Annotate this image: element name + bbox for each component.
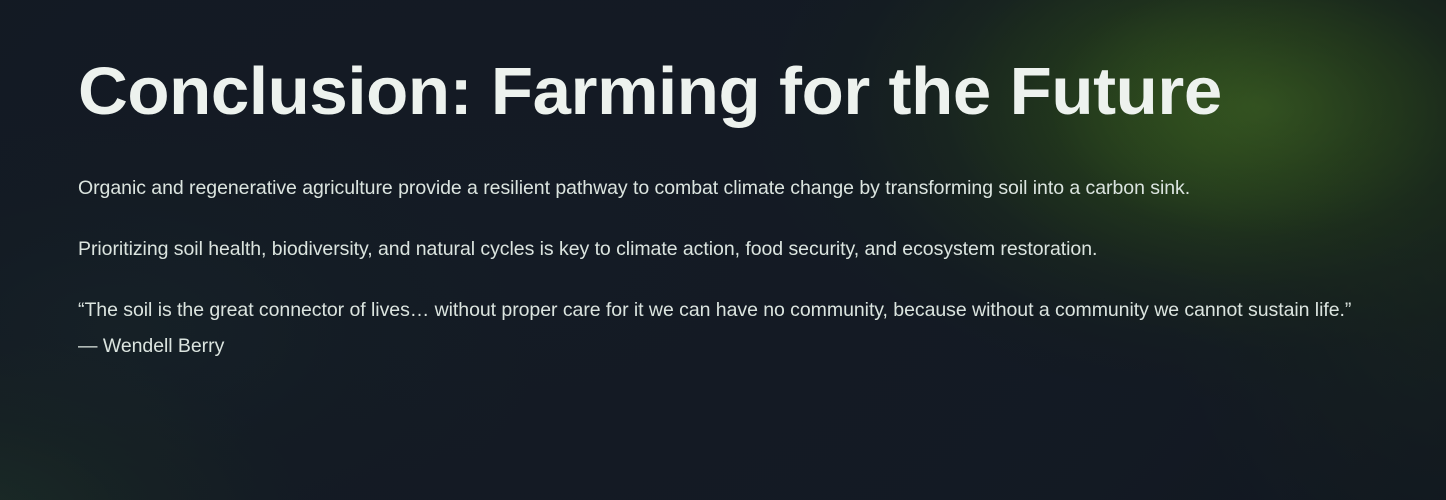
paragraph-summary: Organic and regenerative agriculture pro… <box>78 170 1368 206</box>
quote-text: “The soil is the great connector of live… <box>78 299 1351 321</box>
section-body: Organic and regenerative agriculture pro… <box>78 170 1368 364</box>
page-title: Conclusion: Farming for the Future <box>78 0 1345 128</box>
quote-attribution: — Wendell Berry <box>78 335 224 357</box>
paragraph-priorities: Prioritizing soil health, biodiversity, … <box>78 231 1368 267</box>
section-content: Conclusion: Farming for the Future Organ… <box>0 0 1446 364</box>
pull-quote: “The soil is the great connector of live… <box>78 292 1368 364</box>
conclusion-section: Conclusion: Farming for the Future Organ… <box>0 0 1446 500</box>
